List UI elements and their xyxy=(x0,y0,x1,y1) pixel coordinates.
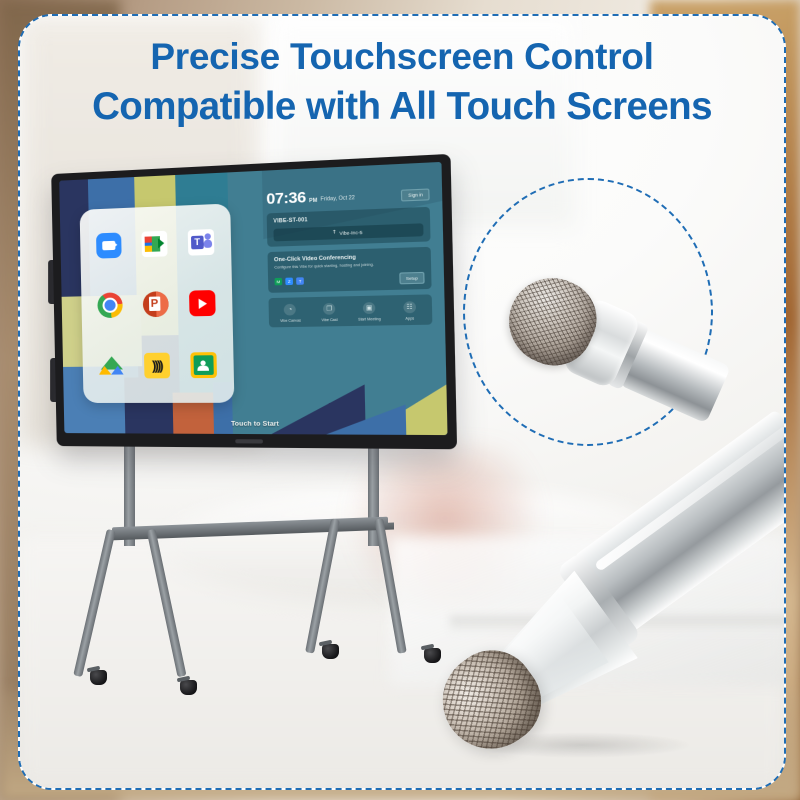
app-icon-google-drive[interactable] xyxy=(98,354,124,380)
device-card: VIBE-ST-001 ⍒ Vibe-Inc-5 xyxy=(267,207,431,247)
page-title: Precise Touchscreen Control Compatible w… xyxy=(20,32,784,132)
display-bezel: T )))) xyxy=(51,154,457,449)
quick-action-vibe-canvas[interactable]: ◔ Vibe Canvas xyxy=(271,304,310,323)
vibe-cast-icon: ❐ xyxy=(323,303,335,315)
display-screen[interactable]: T )))) xyxy=(59,162,447,435)
device-name: VIBE-ST-001 xyxy=(273,213,423,225)
dashed-frame-card: Precise Touchscreen Control Compatible w… xyxy=(18,14,786,790)
setup-button[interactable]: Setup xyxy=(399,272,425,285)
hero-stylus xyxy=(412,446,786,786)
miro-glyph: )))) xyxy=(152,358,162,373)
mini-app-icon-teams[interactable]: T xyxy=(296,277,304,285)
app-icon-miro[interactable]: )))) xyxy=(144,353,170,379)
quick-action-apps[interactable]: ☷ Apps xyxy=(389,301,430,321)
app-icon-youtube[interactable] xyxy=(189,291,216,317)
caster-wheel xyxy=(90,670,107,685)
quick-action-start-meeting[interactable]: ▣ Start Meeting xyxy=(349,302,389,321)
stylus-body xyxy=(407,415,786,763)
os-side-panel: 07:36 PM Friday, Oct 22 Sign in VIBE-ST-… xyxy=(266,184,434,402)
wifi-status-pill[interactable]: ⍒ Vibe-Inc-5 xyxy=(273,223,423,241)
caster-wheel xyxy=(180,680,197,695)
quick-action-vibe-cast[interactable]: ❐ Vibe Cast xyxy=(310,303,350,322)
wifi-ssid: Vibe-Inc-5 xyxy=(339,229,362,235)
mini-app-icon-zoom[interactable]: Z xyxy=(285,278,293,286)
stylus-tip-detail-callout xyxy=(463,178,713,446)
caster-wheel xyxy=(322,644,339,659)
quick-actions-row: ◔ Vibe Canvas ❐ Vibe Cast ▣ Start Meetin… xyxy=(269,295,433,328)
vibe-canvas-icon: ◔ xyxy=(284,304,296,316)
mobile-rolling-stand xyxy=(50,436,470,766)
conference-app-row: M Z T Setup xyxy=(275,272,425,288)
touch-to-start-prompt[interactable]: Touch to Start xyxy=(231,420,279,427)
mini-app-icon-meet[interactable]: M xyxy=(275,278,283,286)
teams-letter: T xyxy=(191,235,204,249)
quick-action-label: Start Meeting xyxy=(358,317,381,322)
stand-leg-front-right xyxy=(305,518,340,653)
start-meeting-icon: ▣ xyxy=(363,302,376,314)
clock-time: 07:36 xyxy=(266,190,306,207)
app-icon-google-classroom[interactable] xyxy=(190,352,217,378)
headline-line-1: Precise Touchscreen Control xyxy=(150,36,653,77)
app-icon-powerpoint[interactable] xyxy=(143,292,169,318)
headline-line-2: Compatible with All Touch Screens xyxy=(20,82,784,132)
clock-ampm: PM xyxy=(309,197,317,205)
stand-leg-back-left xyxy=(147,529,187,678)
interactive-flat-panel-display: T )))) xyxy=(34,162,444,482)
product-marketing-image: Precise Touchscreen Control Compatible w… xyxy=(0,0,800,800)
quick-action-label: Vibe Canvas xyxy=(280,318,301,323)
apps-grid-icon: ☷ xyxy=(403,301,416,313)
video-conferencing-card: One-Click Video Conferencing Configure t… xyxy=(268,247,432,293)
stand-leg-back-right xyxy=(374,518,406,653)
app-icon-zoom[interactable] xyxy=(96,232,122,258)
quick-action-label: Apps xyxy=(405,316,414,320)
app-icon-microsoft-teams[interactable]: T xyxy=(188,229,215,256)
app-dock[interactable]: T )))) xyxy=(79,204,234,403)
clock-date: Friday, Oct 22 xyxy=(321,195,355,205)
quick-action-label: Vibe Cast xyxy=(322,317,338,322)
sign-in-button[interactable]: Sign in xyxy=(401,189,430,202)
app-icon-google-meet[interactable] xyxy=(141,230,167,256)
stand-leg-front-left xyxy=(73,529,116,677)
app-icon-chrome[interactable] xyxy=(97,293,123,319)
wifi-icon: ⍒ xyxy=(333,230,336,236)
